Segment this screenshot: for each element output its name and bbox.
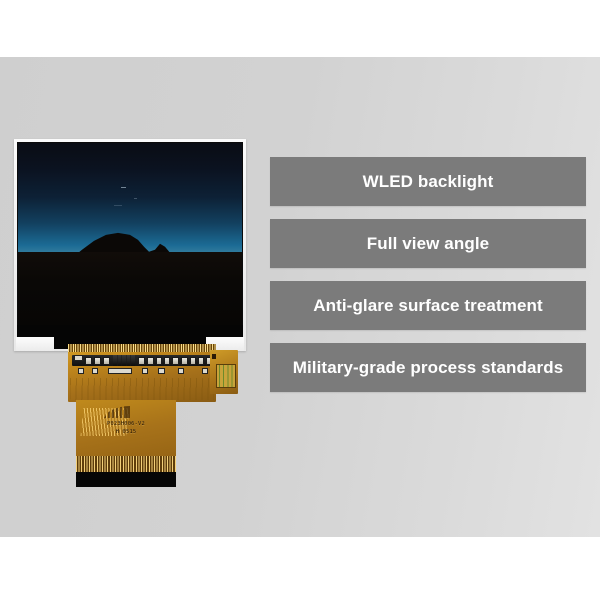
smd-chip — [198, 357, 204, 365]
smd-pad — [178, 368, 184, 374]
feature-label: Full view angle — [367, 234, 489, 254]
smd-capacitor — [127, 355, 130, 366]
product-image: P023H006-V2 H 0515 WLED backlight Full v… — [0, 0, 600, 600]
smd-chip — [138, 357, 145, 365]
feature-item-military-grade[interactable]: Military-grade process standards — [270, 343, 586, 392]
smd-chip — [156, 357, 162, 365]
feature-label: WLED backlight — [363, 172, 494, 192]
smd-chip — [181, 357, 188, 365]
feature-item-full-view-angle[interactable]: Full view angle — [270, 219, 586, 268]
smd-chip — [103, 357, 110, 365]
mounting-tab-left — [16, 337, 54, 351]
fpc-traces — [70, 378, 214, 400]
smd-pad — [142, 368, 148, 374]
smd-chip — [190, 357, 196, 365]
smd-chip — [164, 357, 170, 365]
feature-list: WLED backlight Full view angle Anti-glar… — [270, 157, 586, 392]
smd-pad — [74, 355, 83, 361]
smd-pad — [78, 368, 84, 374]
foreground-ground — [18, 252, 242, 325]
smd-capacitor — [118, 355, 121, 366]
feature-label: Military-grade process standards — [293, 358, 564, 378]
smd-capacitor — [131, 355, 135, 366]
lcd-screen — [18, 143, 242, 325]
feature-item-anti-glare[interactable]: Anti-glare surface treatment — [270, 281, 586, 330]
smd-component-row-secondary — [72, 368, 214, 375]
smd-capacitor — [113, 355, 117, 366]
connector-gold-pins — [216, 364, 236, 388]
lcd-display-module: P023H006-V2 H 0515 — [14, 139, 246, 489]
fpc-tail-conductor-comb — [76, 456, 176, 472]
sky-streak — [114, 205, 122, 206]
smd-chip — [172, 357, 179, 365]
smd-chip — [147, 357, 154, 365]
smd-pad — [202, 368, 208, 374]
smd-chip — [94, 357, 101, 365]
feature-item-wled-backlight[interactable]: WLED backlight — [270, 157, 586, 206]
fpc-tail-end-connector — [76, 472, 176, 487]
smd-component-row — [72, 355, 214, 366]
fpc-silkscreen-text: P023H006-V2 H 0515 — [76, 420, 176, 436]
smd-pad — [92, 368, 98, 374]
fpc-head — [68, 344, 216, 402]
feature-label: Anti-glare surface treatment — [313, 296, 543, 316]
smd-pad-wide — [108, 368, 132, 374]
fpc-part-number: P023H006-V2 — [76, 420, 176, 428]
smd-capacitor — [122, 355, 126, 366]
sky-streak — [121, 187, 126, 188]
fpc-batch-code: H 0515 — [76, 428, 176, 436]
sky-streak — [134, 198, 137, 199]
flexible-printed-circuit: P023H006-V2 H 0515 — [68, 344, 238, 489]
connector-polarity-mark-icon — [212, 354, 216, 359]
smd-pad — [158, 368, 165, 374]
fpc-conductor-comb — [68, 344, 216, 352]
panel-frame — [14, 139, 246, 351]
smd-chip — [85, 357, 92, 365]
